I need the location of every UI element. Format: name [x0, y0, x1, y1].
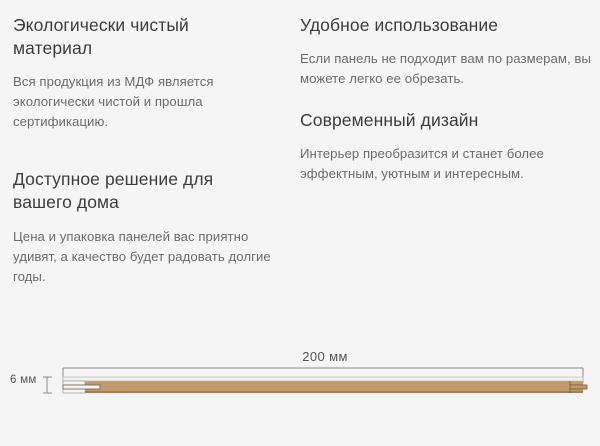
feature-columns: Экологически чистый материал Вся продукц…	[0, 0, 600, 330]
panel-cross-section-diagram: 200 мм 6 мм	[0, 330, 600, 446]
feature-body-affordable-solution: Цена и упаковка панелей вас приятно удив…	[13, 227, 272, 287]
feature-body-modern-design: Интерьер преобразится и станет более эфф…	[300, 144, 592, 184]
feature-body-eco-material: Вся продукция из МДФ является экологичес…	[13, 72, 272, 132]
feature-easy-use: Удобное использование Если панель не под…	[300, 14, 592, 89]
feature-body-easy-use: Если панель не подходит вам по размерам,…	[300, 49, 592, 89]
feature-title-easy-use: Удобное использование	[300, 14, 592, 37]
feature-title-modern-design: Современный дизайн	[300, 109, 592, 132]
product-feature-page: Экологически чистый материал Вся продукц…	[0, 0, 600, 446]
panel-width-label: 200 мм	[302, 349, 348, 364]
feature-modern-design: Современный дизайн Интерьер преобразится…	[300, 109, 592, 184]
feature-column-right: Удобное использование Если панель не под…	[300, 0, 600, 198]
feature-affordable-solution: Доступное решение для вашего дома Цена и…	[13, 168, 272, 286]
feature-title-affordable-solution: Доступное решение для вашего дома	[13, 168, 272, 214]
panel-body	[63, 377, 583, 393]
feature-column-left: Экологически чистый материал Вся продукц…	[0, 0, 300, 301]
feature-eco-material: Экологически чистый материал Вся продукц…	[13, 14, 272, 132]
thickness-dimension-bracket	[43, 377, 52, 393]
feature-title-eco-material: Экологически чистый материал	[13, 14, 272, 60]
panel-thickness-label: 6 мм	[10, 374, 37, 386]
